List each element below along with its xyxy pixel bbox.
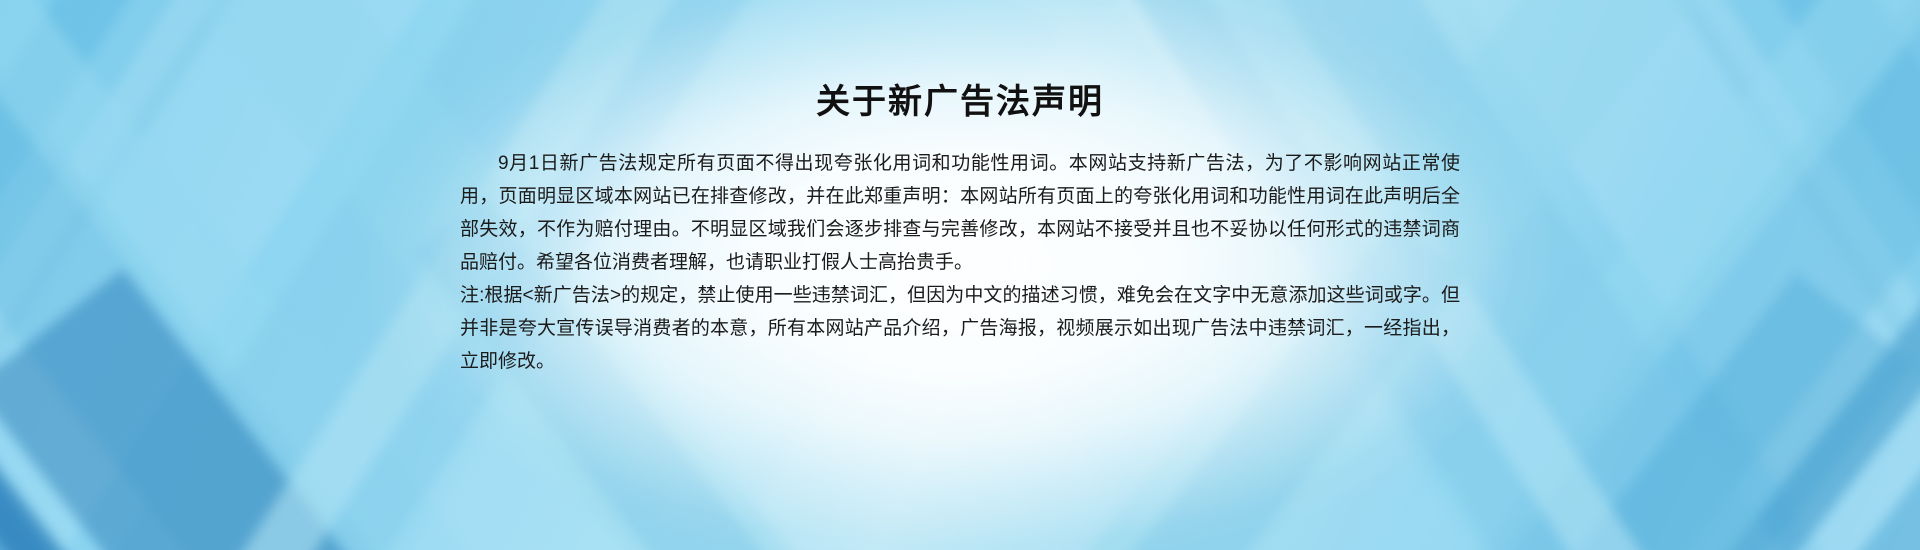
diagonal-band	[0, 0, 501, 550]
statement-content: 关于新广告法声明 9月1日新广告法规定所有页面不得出现夸张化用词和功能性用词。本…	[460, 0, 1460, 550]
diagonal-band	[0, 94, 222, 550]
diagonal-band	[0, 0, 263, 550]
diagonal-band	[1387, 0, 1920, 550]
statement-paragraph-note: 注:根据<新广告法>的规定，禁止使用一些违禁词汇，但因为中文的描述习惯，难免会在…	[460, 279, 1460, 378]
diagonal-band	[0, 91, 258, 550]
statement-paragraph-main: 9月1日新广告法规定所有页面不得出现夸张化用词和功能性用词。本网站支持新广告法，…	[460, 147, 1460, 279]
diagonal-band	[0, 0, 291, 550]
page-title: 关于新广告法声明	[460, 82, 1460, 123]
diagonal-band	[1611, 0, 1920, 550]
diagonal-band	[1396, 273, 1914, 550]
statement-body: 9月1日新广告法规定所有页面不得出现夸张化用词和功能性用词。本网站支持新广告法，…	[460, 147, 1460, 378]
diagonal-band	[1555, 42, 1920, 550]
diagonal-band	[0, 0, 493, 550]
advertising-law-statement-banner: 关于新广告法声明 9月1日新广告法规定所有页面不得出现夸张化用词和功能性用词。本…	[0, 0, 1920, 550]
diagonal-band	[1682, 86, 1920, 550]
diagonal-band	[1627, 0, 1920, 550]
diagonal-band	[0, 269, 517, 550]
